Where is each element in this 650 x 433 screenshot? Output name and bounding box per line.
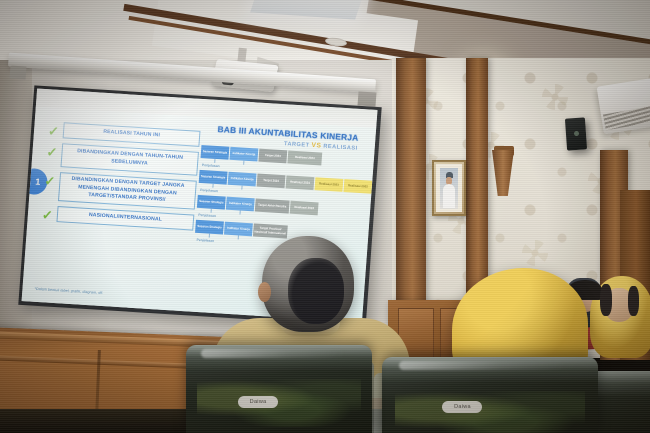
slide-subtitle-vs: VS	[311, 142, 321, 150]
man-foreground-ear	[258, 282, 271, 302]
tick-mark	[211, 209, 212, 213]
checklist-item-label: DIBANDINGKAN DENGAN TARGET JANGKA MENENG…	[58, 172, 197, 210]
framed-official-portrait	[432, 160, 466, 216]
checklist-item: ✓ DIBANDINGKAN DENGAN TAHUN-TAHUN SEBELU…	[46, 142, 199, 175]
checklist-item-label: DIBANDINGKAN DENGAN TAHUN-TAHUN SEBELUMN…	[60, 143, 198, 175]
chair-highlight	[399, 361, 567, 370]
slide-subtitle-realisasi: REALISASI	[323, 144, 358, 152]
slide-footnote: *Dalam bentuk tabel, grafik, diagram, dl…	[34, 287, 184, 300]
check-icon: ✓	[44, 175, 57, 187]
chair-brand-tag: Daiwa	[238, 396, 278, 408]
woman-right-hair-right	[628, 286, 639, 316]
roller-end-cap-left	[10, 65, 27, 79]
slide-table-rows: Sasaran Strategis Indikator Kinerja Targ…	[194, 145, 376, 256]
slide-subtitle-target: TARGET	[284, 141, 310, 149]
check-icon: ✓	[46, 146, 59, 158]
checklist-item: ✓ NASIONAL/INTERNASIONAL	[41, 205, 194, 230]
chair-left[interactable]: Daiwa	[186, 345, 372, 433]
wallpaper-motif	[522, 240, 548, 266]
checklist-item-label: NASIONAL/INTERNASIONAL	[56, 206, 194, 230]
portrait-uniform	[443, 184, 456, 208]
chair-upholstery-pattern	[197, 379, 361, 427]
tick-mark	[238, 235, 239, 239]
portrait-mat	[436, 164, 462, 212]
wallpaper-motif	[542, 84, 568, 110]
conference-room-photo: BAB III AKUNTABILITAS KINERJA TARGET VS …	[0, 0, 650, 433]
checklist-item: ✓ DIBANDINGKAN DENGAN TARGET JANGKA MENE…	[43, 171, 197, 210]
tick-mark	[241, 186, 242, 190]
check-icon: ✓	[42, 209, 55, 221]
tick-mark	[212, 184, 213, 188]
roller-end-cap-right	[358, 91, 377, 106]
woman-right-hair-left	[600, 284, 612, 316]
tick-mark	[214, 159, 215, 163]
chair-brand-tag: Daiwa	[442, 401, 482, 413]
portrait-image	[440, 168, 458, 209]
check-icon: ✓	[48, 125, 61, 137]
chair-center[interactable]: Daiwa	[382, 357, 598, 433]
tick-mark	[209, 234, 210, 238]
chair-highlight	[201, 349, 346, 358]
tick-mark	[239, 211, 240, 215]
man-foreground-hair	[288, 258, 344, 324]
tick-mark	[243, 161, 244, 165]
slide-checklist: ✓ REALISASI TAHUN INI ✓ DIBANDINGKAN DEN…	[41, 121, 200, 235]
chair-upholstery-pattern	[395, 391, 585, 433]
